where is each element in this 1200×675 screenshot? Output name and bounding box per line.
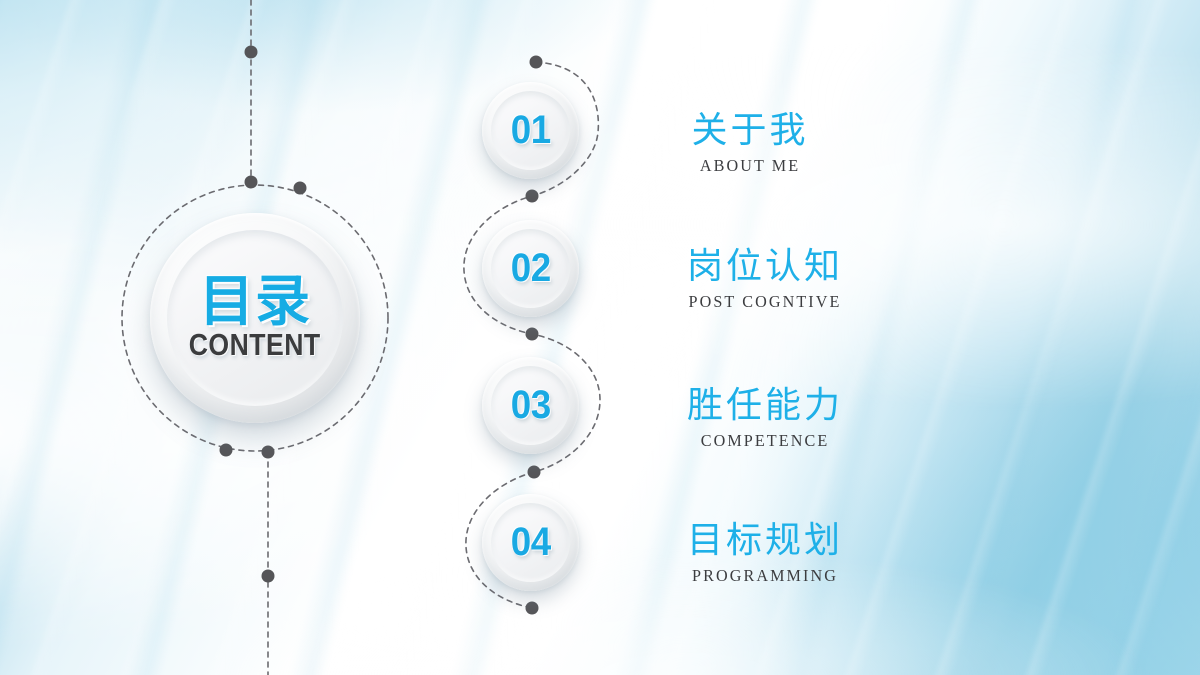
step-title-cn-01: 关于我 (600, 110, 900, 150)
line-dot-top (245, 46, 258, 59)
step-circle-inner-03: 03 (491, 366, 570, 445)
line-dot-ring-bottom-right (262, 446, 275, 459)
step-title-en-02: POST COGNTIVE (623, 292, 908, 312)
step-number-03: 03 (510, 383, 550, 428)
line-dot-ring-bottom-left (220, 444, 233, 457)
step-number-01: 01 (510, 108, 550, 153)
step-number-04: 04 (510, 520, 550, 565)
step-circle-03[interactable]: 03 (482, 357, 579, 454)
step-path-dot-2 (526, 328, 539, 341)
step-path-dot-start (530, 56, 543, 69)
content-medallion: 目录 CONTENT (150, 213, 360, 423)
step-text-03[interactable]: 胜任能力 COMPETENCE (615, 385, 915, 451)
line-dot-bottom (262, 570, 275, 583)
step-title-cn-04: 目标规划 (615, 520, 915, 560)
line-dot-ring-top-left (245, 176, 258, 189)
step-circle-02[interactable]: 02 (482, 220, 579, 317)
step-circle-inner-01: 01 (491, 91, 570, 170)
step-title-en-01: ABOUT ME (608, 156, 893, 176)
step-path-dot-end (526, 602, 539, 615)
step-path-dot-1 (526, 190, 539, 203)
presentation-slide: 目录 CONTENT 01 关于我 ABOUT ME 02 岗位认知 POST … (0, 0, 1200, 675)
step-path-dot-3 (528, 466, 541, 479)
step-title-cn-02: 岗位认知 (615, 246, 915, 286)
step-text-02[interactable]: 岗位认知 POST COGNTIVE (615, 246, 915, 312)
medallion-title-en: CONTENT (189, 327, 321, 363)
line-dot-ring-top-right (294, 182, 307, 195)
step-title-cn-03: 胜任能力 (615, 385, 915, 425)
step-circle-04[interactable]: 04 (482, 494, 579, 591)
step-circle-01[interactable]: 01 (482, 82, 579, 179)
step-title-en-04: PROGRAMMING (623, 566, 908, 586)
step-text-01[interactable]: 关于我 ABOUT ME (600, 110, 900, 176)
step-number-02: 02 (510, 246, 550, 291)
step-title-en-03: COMPETENCE (623, 431, 908, 451)
content-medallion-inner: 目录 CONTENT (167, 230, 343, 406)
step-text-04[interactable]: 目标规划 PROGRAMMING (615, 520, 915, 586)
step-circle-inner-04: 04 (491, 503, 570, 582)
step-circle-inner-02: 02 (491, 229, 570, 308)
medallion-title-cn: 目录 (199, 273, 311, 329)
